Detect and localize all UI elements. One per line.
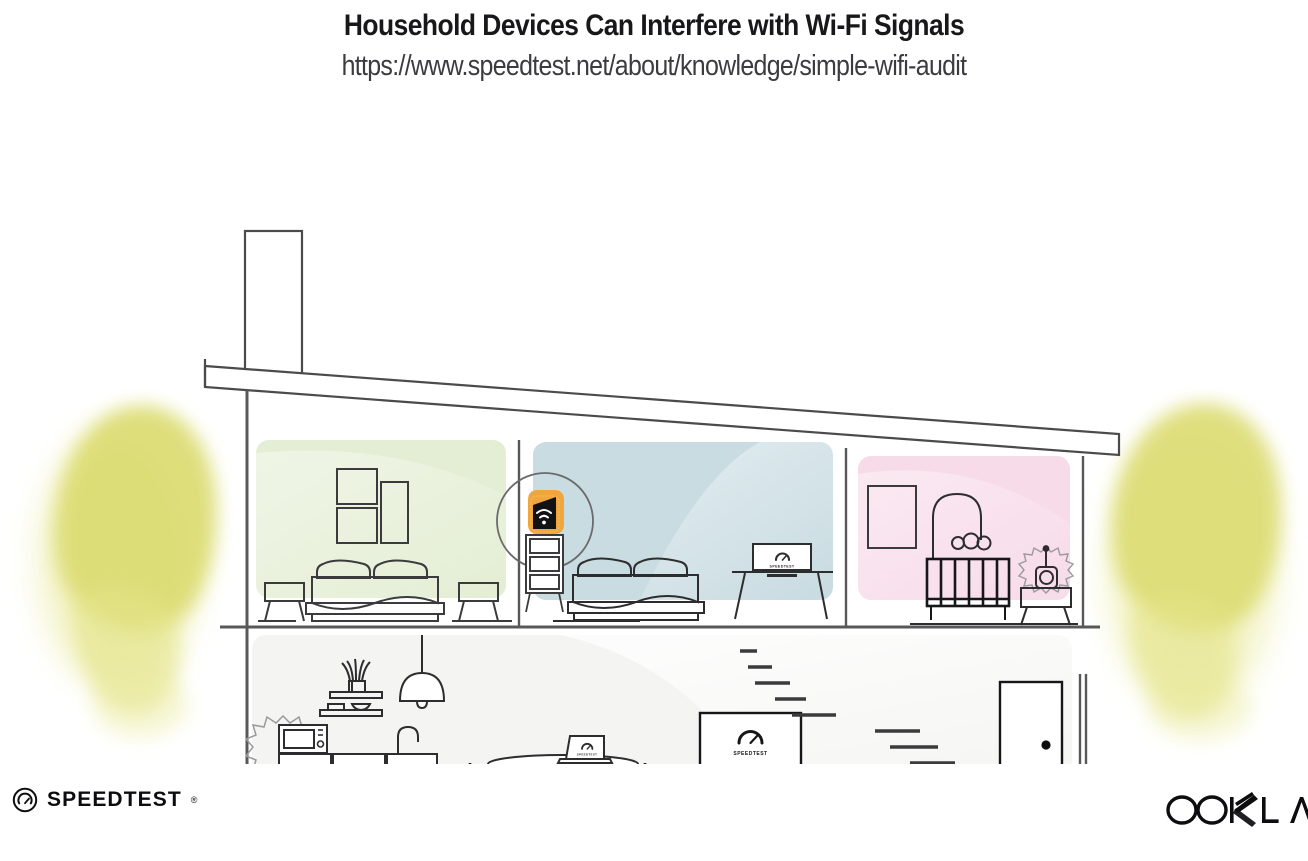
page-title: Household Devices Can Interfere with Wi-…: [78, 0, 1229, 43]
speedtest-wordmark: SPEEDTEST: [47, 788, 182, 812]
wifi-router[interactable]: [528, 490, 564, 534]
speedtest-logo[interactable]: SPEEDTEST ®: [12, 787, 197, 813]
foliage-left: [38, 406, 216, 738]
shelf-unit: [526, 535, 563, 612]
chimney: [245, 231, 302, 389]
footer: SPEEDTEST ®: [0, 765, 1308, 861]
television-screen[interactable]: SPEEDTEST: [700, 713, 801, 764]
room-nursery-pink: [858, 456, 1070, 600]
room-ground-floor: [252, 635, 1072, 764]
bed-green: [306, 561, 444, 622]
page-root: Household Devices Can Interfere with Wi-…: [0, 0, 1308, 861]
microwave[interactable]: [279, 725, 327, 753]
page-url: https://www.speedtest.net/about/knowledg…: [92, 43, 1217, 83]
foliage-right: [1108, 403, 1281, 741]
laptop-brand-label: SPEEDTEST: [577, 753, 598, 757]
monitor-brand-label: SPEEDTEST: [770, 565, 795, 569]
ookla-k-glyph: [1230, 792, 1258, 827]
ookla-logo[interactable]: [1162, 789, 1308, 829]
header: Household Devices Can Interfere with Wi-…: [0, 0, 1308, 83]
wifi-dot: [542, 521, 546, 525]
door-knob[interactable]: [1041, 740, 1050, 749]
front-door[interactable]: [1000, 682, 1062, 764]
speedometer-icon: [12, 787, 38, 813]
house-illustration: SPEEDTEST: [0, 104, 1308, 764]
speedtest-trademark: ®: [191, 795, 198, 805]
tv-brand-label: SPEEDTEST: [733, 751, 767, 757]
kitchen-counter: [279, 754, 437, 764]
monitor-stand: [767, 574, 797, 577]
